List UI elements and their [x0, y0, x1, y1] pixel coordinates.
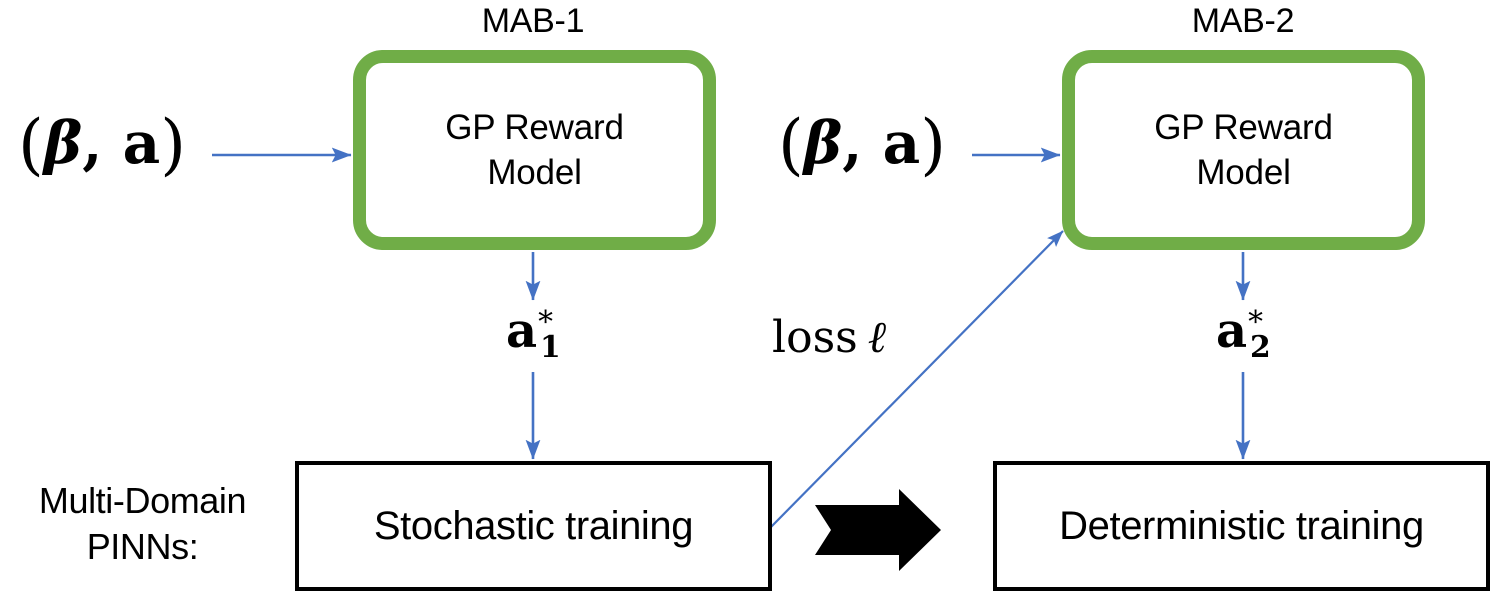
input-tuple-mab1: (β, a) [18, 106, 186, 183]
comma-right: , [842, 109, 862, 177]
multi-domain-pinns-label: Multi-Domain PINNs: [0, 478, 285, 570]
action-symbol-left: a [123, 109, 161, 177]
caption-mab1: MAB-1 [433, 2, 633, 41]
paren-open-left: ( [18, 106, 44, 183]
gp-reward-model-box-mab1[interactable]: GP Reward Model [353, 50, 716, 250]
gp-reward-model-label-mab1: GP Reward Model [445, 105, 623, 196]
paren-close-left: ) [160, 106, 186, 183]
gp-reward-model-box-mab2[interactable]: GP Reward Model [1062, 50, 1425, 250]
loss-word: loss [772, 312, 858, 363]
beta-symbol-right: β [804, 109, 843, 177]
optimal-action-label-1: a*1 [506, 307, 561, 362]
paren-close-right: ) [920, 106, 946, 183]
action-base-1: a [506, 303, 537, 359]
input-tuple-mab2: (β, a) [778, 106, 946, 183]
stochastic-training-label: Stochastic training [374, 504, 693, 549]
loss-symbol: ℓ [868, 312, 886, 363]
action-base-2: a [1216, 303, 1247, 359]
deterministic-training-label: Deterministic training [1059, 504, 1424, 549]
deterministic-training-box[interactable]: Deterministic training [993, 461, 1490, 591]
action-subscript-2: 2 [1250, 330, 1271, 365]
loss-label: lossℓ [772, 312, 886, 363]
optimal-action-label-2: a*2 [1216, 307, 1271, 362]
stochastic-training-box[interactable]: Stochastic training [295, 461, 772, 591]
action-symbol-right: a [883, 109, 921, 177]
action-subscript-1: 1 [540, 330, 561, 365]
gp-reward-model-label-mab2: GP Reward Model [1154, 105, 1332, 196]
beta-symbol-left: β [44, 109, 83, 177]
block-arrow-stage-transition [815, 489, 941, 571]
paren-open-right: ( [778, 106, 804, 183]
caption-mab2: MAB-2 [1143, 2, 1343, 41]
pipeline-diagram: MAB-1 MAB-2 GP Reward Model GP Reward Mo… [0, 0, 1498, 599]
comma-left: , [82, 109, 102, 177]
